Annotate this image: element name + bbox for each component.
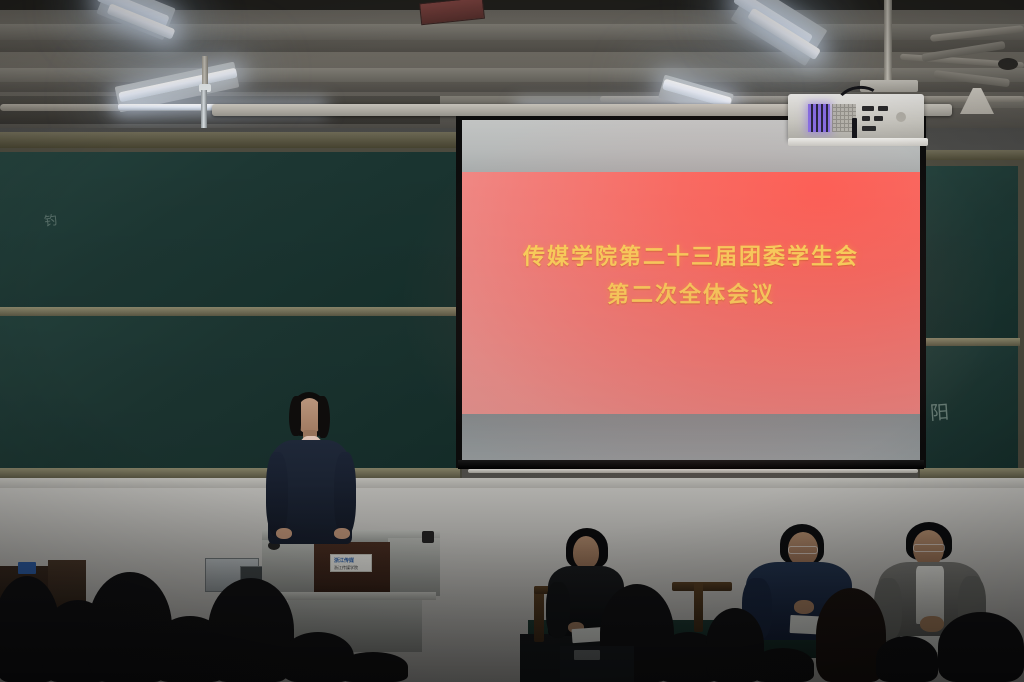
- projector-lens: [896, 112, 906, 122]
- slide-title-line-1: 传媒学院第二十三届团委学生会: [462, 242, 920, 274]
- podium-knob-right: [422, 531, 434, 543]
- podium-plaque: 浙江传媒 浙江传媒学院: [330, 554, 372, 572]
- podium-base-cap: [278, 592, 436, 600]
- speaker-arm-right: [334, 452, 356, 536]
- chalkboard-top-rail: [0, 132, 462, 148]
- eyeglasses: [788, 546, 818, 554]
- projection-screen[interactable]: 传媒学院第二十三届团委学生会 第二次全体会议: [462, 120, 920, 462]
- panelist-hand: [794, 600, 814, 614]
- chalkboard-panel-lower-left: [0, 316, 456, 468]
- projected-slide: 传媒学院第二十三届团委学生会 第二次全体会议: [462, 172, 920, 414]
- audience-head: [876, 636, 938, 682]
- chalkboard-ledge: [920, 468, 1024, 478]
- screen-bottom-lip: [468, 469, 918, 473]
- ceiling-fan-hub: [998, 58, 1018, 70]
- projector-mount-pole: [884, 0, 892, 82]
- panelist-head: [573, 536, 599, 569]
- projector-base: [788, 138, 928, 146]
- slide-title-line-2: 第二次全体会议: [462, 280, 920, 312]
- speaker-hair-right: [318, 396, 330, 438]
- speaker-arm-left: [266, 452, 288, 536]
- plaque-sub-text: 浙江传媒学院: [334, 565, 358, 571]
- projector-port: [874, 116, 883, 121]
- chalk-mark: 钓: [43, 209, 60, 230]
- projector-port: [862, 126, 876, 131]
- audience-head: [752, 648, 814, 682]
- speaker-hand-right: [334, 528, 350, 539]
- eyeglasses: [913, 544, 945, 552]
- audience-head: [938, 612, 1024, 682]
- chair-back-left: [534, 586, 544, 642]
- projector-vent-glow: [808, 104, 830, 132]
- chalk-mark: 阳: [929, 397, 951, 425]
- chalkboard-panel-upper-left: [0, 152, 456, 307]
- podium-right-side: [388, 538, 440, 596]
- stage-edge: [0, 478, 1024, 488]
- speaker-hand-left: [276, 528, 292, 539]
- classroom-photo: 钓 阳 传媒学院第二十三届团委学生会 第二次全体会议: [0, 0, 1024, 682]
- panelist-arm: [546, 582, 570, 638]
- chair-back-mid: [694, 582, 703, 632]
- blue-object: [18, 562, 36, 574]
- screen-band-bottom: [462, 414, 920, 462]
- plaque-logo-text: 浙江传媒: [334, 557, 354, 564]
- projector-cable-drop: [852, 118, 857, 140]
- chalkboard-panel-upper-right: [922, 166, 1018, 338]
- mic-mount: [202, 56, 208, 86]
- speaker-hair-left: [289, 396, 301, 436]
- ceiling-beam-shadow: [0, 40, 1024, 52]
- screen-weight-bar: [458, 460, 924, 469]
- panelist-hands: [920, 616, 944, 632]
- audience-paper: [574, 650, 600, 660]
- chalkboard-ledge: [921, 338, 1020, 346]
- chalkboard-ledge: [0, 307, 458, 316]
- chalkboard-ledge: [0, 468, 460, 478]
- audience-head: [338, 652, 408, 682]
